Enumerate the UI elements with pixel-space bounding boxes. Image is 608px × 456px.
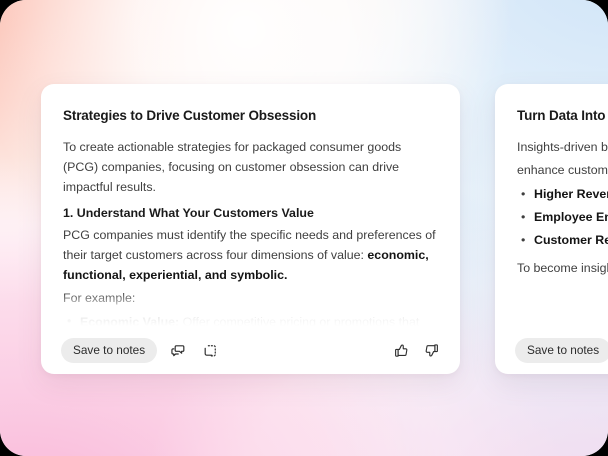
card-intro-line-1: Insights-driven businesses grow faster a… bbox=[517, 137, 608, 157]
list-item-label: Customer Retention: bbox=[534, 233, 608, 247]
card-lead-paragraph: PCG companies must identify the specific… bbox=[63, 225, 438, 285]
card-footer: Save to notes bbox=[41, 326, 460, 374]
save-to-notes-button[interactable]: Save to notes bbox=[61, 338, 157, 363]
card-intro-paragraph: To create actionable strategies for pack… bbox=[63, 137, 438, 197]
card-title: Turn Data Into Customer Insights bbox=[517, 108, 608, 123]
content-fade-overlay bbox=[495, 292, 608, 326]
card-outro-paragraph: To become insights-driven, bbox=[517, 258, 608, 278]
card-title: Strategies to Drive Customer Obsession bbox=[63, 108, 438, 123]
card-body: Strategies to Drive Customer Obsession T… bbox=[41, 84, 460, 326]
list-item: Employee Engagement: Teams are 44% more … bbox=[517, 207, 608, 227]
list-item-label: Economic Value: bbox=[80, 315, 179, 326]
value-dimension-list: Economic Value: Offer competitive pricin… bbox=[63, 312, 438, 326]
strategies-card[interactable]: Strategies to Drive Customer Obsession T… bbox=[41, 84, 460, 374]
copy-selection-icon[interactable] bbox=[199, 339, 221, 361]
card-footer: Save to notes bbox=[495, 326, 608, 374]
list-item-label: Employee Engagement: bbox=[534, 210, 608, 224]
list-item: Customer Retention: 2.1x customer retent… bbox=[517, 230, 608, 250]
feedback-controls bbox=[390, 339, 442, 361]
list-item-label: Higher Revenue Growth: bbox=[534, 187, 608, 201]
card-intro-line-2: enhance customer experiences by bbox=[517, 160, 608, 180]
for-example-label: For example: bbox=[63, 288, 438, 308]
card-subheading: 1. Understand What Your Customers Value bbox=[63, 204, 438, 223]
thumbs-up-icon[interactable] bbox=[390, 339, 412, 361]
card-body: Turn Data Into Customer Insights Insight… bbox=[495, 84, 608, 326]
save-to-notes-button[interactable]: Save to notes bbox=[515, 338, 608, 363]
thumbs-down-icon[interactable] bbox=[420, 339, 442, 361]
chat-bubbles-icon[interactable] bbox=[167, 339, 189, 361]
page-surface: Strategies to Drive Customer Obsession T… bbox=[0, 0, 608, 456]
list-item: Higher Revenue Growth: 2.3x year-over-ye… bbox=[517, 184, 608, 204]
card-carousel: Strategies to Drive Customer Obsession T… bbox=[41, 84, 608, 374]
insights-benefit-list: Higher Revenue Growth: 2.3x year-over-ye… bbox=[517, 184, 608, 250]
insights-card[interactable]: Turn Data Into Customer Insights Insight… bbox=[495, 84, 608, 374]
list-item: Economic Value: Offer competitive pricin… bbox=[63, 312, 438, 326]
